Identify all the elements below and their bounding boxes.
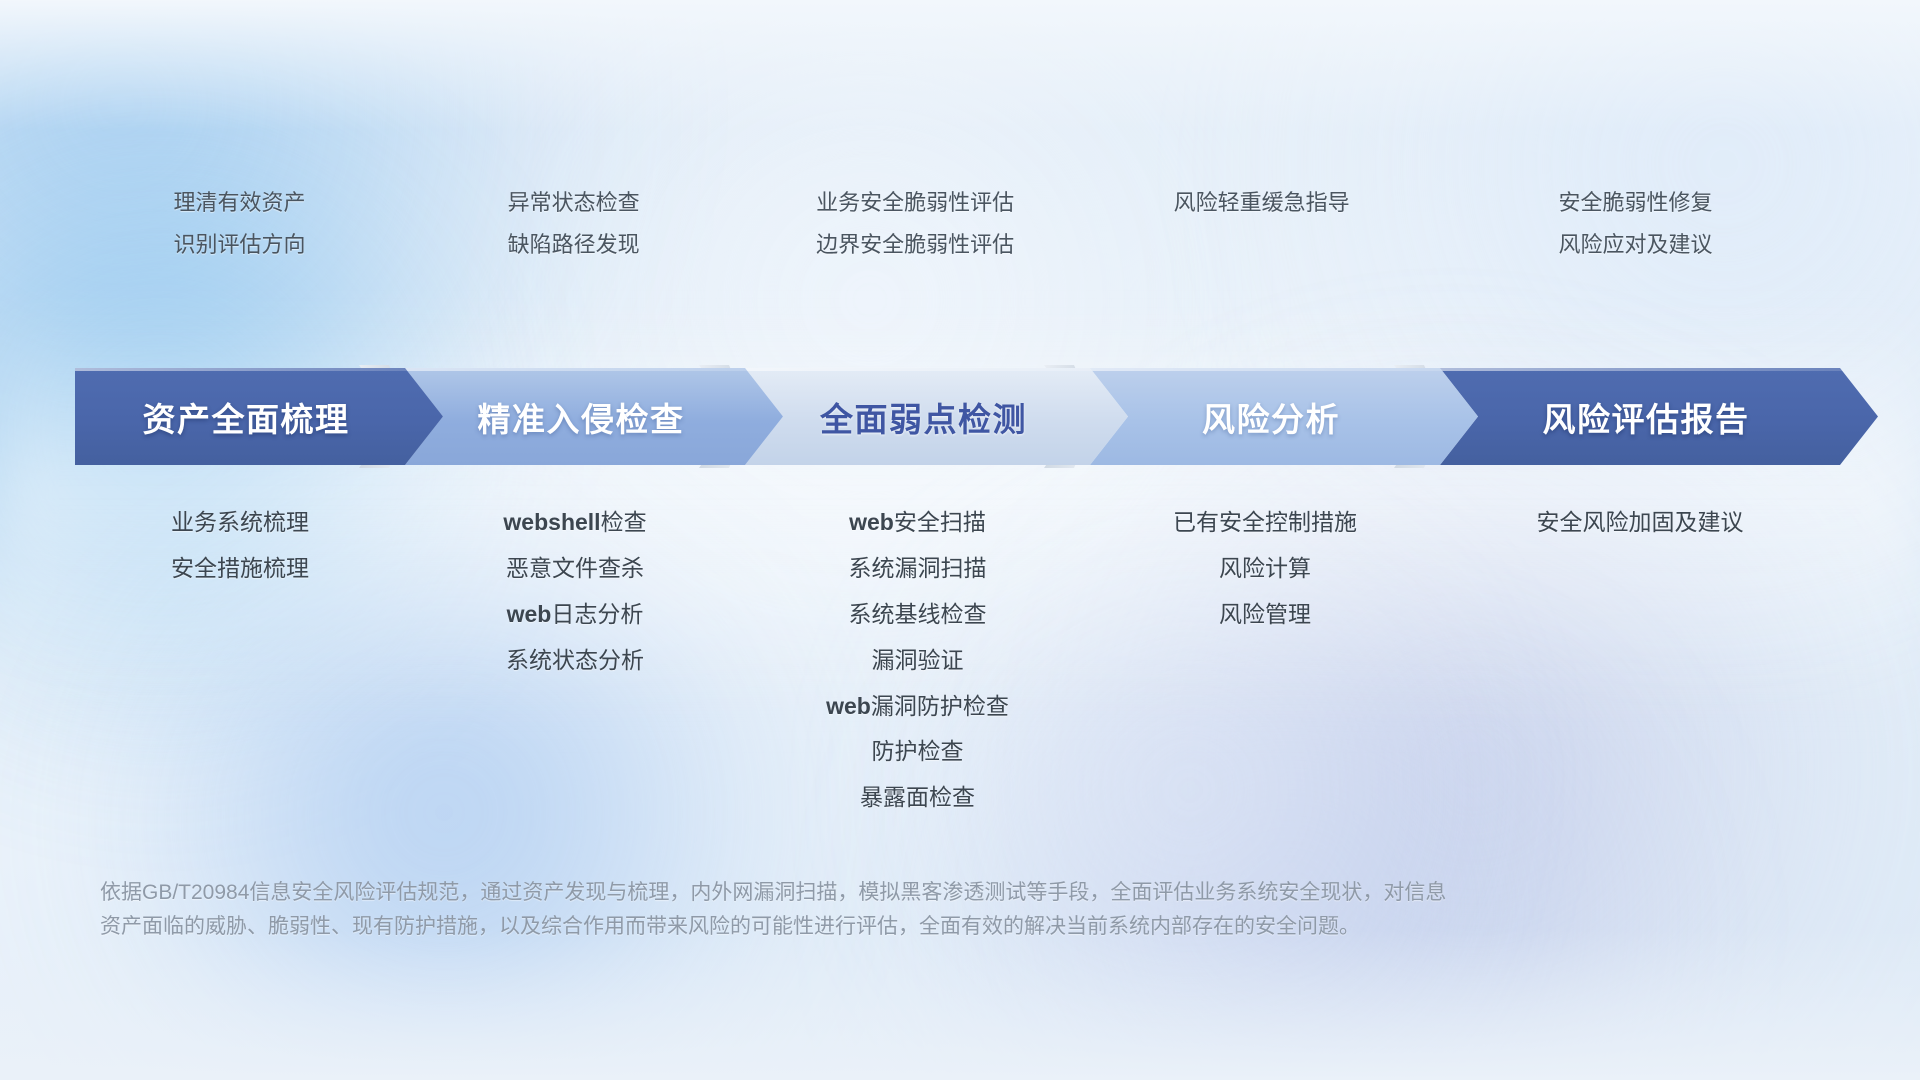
bottom-item-text: 安全风险加固及建议 bbox=[1537, 509, 1744, 535]
top-desc-item: 异常状态检查 bbox=[508, 186, 640, 220]
bottom-item-text: 风险管理 bbox=[1219, 601, 1311, 627]
bottom-item-col-asset-inventory: 业务系统梳理安全措施梳理 bbox=[75, 508, 405, 813]
bottom-item: 安全措施梳理 bbox=[171, 554, 309, 584]
top-desc-col-asset-inventory: 理清有效资产识别评估方向 bbox=[75, 186, 404, 262]
bottom-item: 风险管理 bbox=[1219, 600, 1311, 630]
bottom-item-text: 日志分析 bbox=[551, 601, 643, 627]
stage-arrow-band: 资产全面梳理精准入侵检查全面弱点检测风险分析风险评估报告 bbox=[75, 368, 1840, 465]
bottom-item-text: 漏洞防护检查 bbox=[871, 693, 1009, 719]
bottom-item-latin: web bbox=[826, 693, 871, 719]
bottom-item-latin: web bbox=[507, 601, 552, 627]
bottom-item-text: 安全扫描 bbox=[894, 509, 986, 535]
top-desc-col-weakness-detection: 业务安全脆弱性评估边界安全脆弱性评估 bbox=[743, 186, 1087, 262]
bottom-item-text: 暴露面检查 bbox=[860, 784, 975, 810]
bottom-item: webshell检查 bbox=[503, 508, 646, 538]
top-desc-item: 风险轻重缓急指导 bbox=[1174, 186, 1350, 220]
stage-label: 资产全面梳理 bbox=[143, 393, 376, 441]
bottom-item-latin: web bbox=[849, 509, 894, 535]
bottom-item-text: 系统基线检查 bbox=[849, 601, 987, 627]
bottom-item: 已有安全控制措施 bbox=[1173, 508, 1357, 538]
bottom-item: 安全风险加固及建议 bbox=[1537, 508, 1744, 538]
bottom-item: 恶意文件查杀 bbox=[506, 554, 644, 584]
stage-chevron-risk-report[interactable]: 风险评估报告 bbox=[1440, 368, 1878, 465]
bottom-item-text: 系统状态分析 bbox=[506, 647, 644, 673]
bottom-item: 系统状态分析 bbox=[506, 646, 644, 676]
bottom-item-text: 风险计算 bbox=[1219, 555, 1311, 581]
stage-chevron-weakness-detection[interactable]: 全面弱点检测 bbox=[745, 368, 1128, 465]
bottom-item-text: 恶意文件查杀 bbox=[506, 555, 644, 581]
bottom-item-text: 防护检查 bbox=[872, 738, 964, 764]
stage-label: 风险分析 bbox=[1202, 393, 1366, 441]
bottom-item: 系统基线检查 bbox=[849, 600, 987, 630]
top-desc-item: 业务安全脆弱性评估 bbox=[816, 186, 1014, 220]
top-desc-item: 识别评估方向 bbox=[174, 228, 306, 262]
bottom-item-col-risk-report: 安全风险加固及建议 bbox=[1440, 508, 1840, 813]
infographic: 理清有效资产识别评估方向异常状态检查缺陷路径发现业务安全脆弱性评估边界安全脆弱性… bbox=[0, 0, 1920, 1080]
bottom-item: 业务系统梳理 bbox=[171, 508, 309, 538]
stage-chevron-intrusion-check[interactable]: 精准入侵检查 bbox=[405, 368, 783, 465]
top-desc-col-risk-analysis: 风险轻重缓急指导 bbox=[1087, 186, 1436, 262]
stage-chevron-risk-analysis[interactable]: 风险分析 bbox=[1090, 368, 1478, 465]
bottom-item: 系统漏洞扫描 bbox=[849, 554, 987, 584]
top-desc-item: 缺陷路径发现 bbox=[508, 228, 640, 262]
stage-label: 风险评估报告 bbox=[1543, 393, 1776, 441]
stage-label: 精准入侵检查 bbox=[478, 393, 711, 441]
stage-chevron-asset-inventory[interactable]: 资产全面梳理 bbox=[75, 368, 443, 465]
bottom-item: web漏洞防护检查 bbox=[826, 692, 1009, 722]
bottom-item-col-intrusion-check: webshell检查恶意文件查杀web日志分析系统状态分析 bbox=[405, 508, 745, 813]
bottom-item-col-weakness-detection: web安全扫描系统漏洞扫描系统基线检查漏洞验证web漏洞防护检查防护检查暴露面检… bbox=[745, 508, 1090, 813]
bottom-item: web日志分析 bbox=[507, 600, 644, 630]
slide-canvas: 理清有效资产识别评估方向异常状态检查缺陷路径发现业务安全脆弱性评估边界安全脆弱性… bbox=[0, 0, 1920, 1080]
top-desc-item: 边界安全脆弱性评估 bbox=[816, 228, 1014, 262]
bottom-item: 暴露面检查 bbox=[860, 783, 975, 813]
top-desc-col-intrusion-check: 异常状态检查缺陷路径发现 bbox=[404, 186, 743, 262]
bottom-item: 防护检查 bbox=[872, 737, 964, 767]
top-desc-item: 理清有效资产 bbox=[174, 186, 306, 220]
bottom-item-text: 系统漏洞扫描 bbox=[849, 555, 987, 581]
stage-label: 全面弱点检测 bbox=[820, 393, 1053, 441]
bottom-item-latin: webshell bbox=[503, 509, 600, 535]
footer-description: 依据GB/T20984信息安全风险评估规范，通过资产发现与梳理，内外网漏洞扫描，… bbox=[100, 876, 1660, 944]
bottom-item: web安全扫描 bbox=[849, 508, 986, 538]
stage-top-descriptions: 理清有效资产识别评估方向异常状态检查缺陷路径发现业务安全脆弱性评估边界安全脆弱性… bbox=[75, 186, 1835, 262]
top-desc-item: 风险应对及建议 bbox=[1559, 228, 1713, 262]
footer-line-1: 依据GB/T20984信息安全风险评估规范，通过资产发现与梳理，内外网漏洞扫描，… bbox=[100, 876, 1660, 910]
bottom-item: 漏洞验证 bbox=[872, 646, 964, 676]
bottom-item-text: 检查 bbox=[601, 509, 647, 535]
bottom-item-text: 漏洞验证 bbox=[872, 647, 964, 673]
bottom-item-text: 业务系统梳理 bbox=[171, 509, 309, 535]
bottom-item: 风险计算 bbox=[1219, 554, 1311, 584]
bottom-item-col-risk-analysis: 已有安全控制措施风险计算风险管理 bbox=[1090, 508, 1440, 813]
stage-bottom-items: 业务系统梳理安全措施梳理webshell检查恶意文件查杀web日志分析系统状态分… bbox=[75, 508, 1840, 813]
bottom-item-text: 已有安全控制措施 bbox=[1173, 509, 1357, 535]
top-desc-item: 安全脆弱性修复 bbox=[1559, 186, 1713, 220]
top-desc-col-risk-report: 安全脆弱性修复风险应对及建议 bbox=[1436, 186, 1835, 262]
footer-line-2: 资产面临的威胁、脆弱性、现有防护措施，以及综合作用而带来风险的可能性进行评估，全… bbox=[100, 910, 1660, 944]
bottom-item-text: 安全措施梳理 bbox=[171, 555, 309, 581]
